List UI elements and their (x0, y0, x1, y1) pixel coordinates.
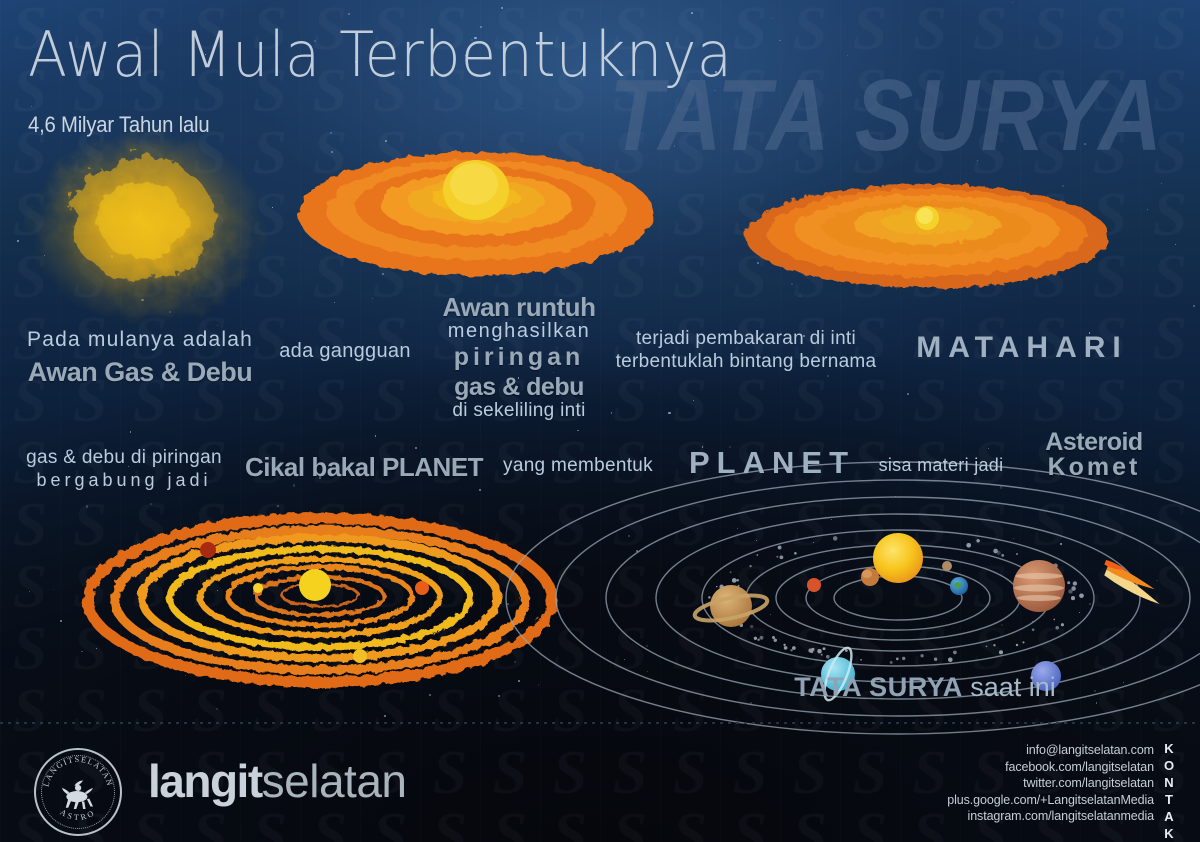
label-comet: Komet (1048, 453, 1141, 482)
label-cloud-line2: Awan Gas & Debu (28, 357, 253, 388)
kontak-letter: K (1160, 825, 1178, 842)
contact-item-1[interactable]: facebook.com/langitselatan (947, 759, 1154, 776)
label-ignition-line1: terjadi pembakaran di inti (636, 328, 856, 350)
big-title: TATA SURYA (609, 58, 1164, 175)
page-subtitle: 4,6 Milyar Tahun lalu (28, 112, 209, 138)
label-leftover: sisa materi jadi (879, 455, 1004, 476)
label-planetesimal: Cikal bakal PLANET (245, 452, 483, 483)
label-collapse-line1: Awan runtuh (443, 292, 596, 323)
langitselatan-seal-logo: LANGITSELATAN ASTRO (34, 748, 122, 836)
seal-artwork: LANGITSELATAN ASTRO (36, 750, 120, 834)
label-sun: MATAHARI (916, 331, 1128, 365)
kontak-vertical-label: KONTAK (1160, 740, 1178, 842)
label-collapse-line3: piringan (454, 343, 585, 372)
collapsing-disk-illustration (296, 138, 656, 288)
brand-bold: langit (148, 755, 262, 807)
contact-item-2[interactable]: twitter.com/langitselatan (947, 775, 1154, 792)
contact-item-4[interactable]: instagram.com/langitselatanmedia (947, 808, 1154, 825)
label-collapse-line4: gas & debu (454, 373, 584, 402)
caption-rest: saat ini (963, 672, 1056, 702)
protoplanet-rings-illustration (72, 508, 572, 693)
label-cloud-line1: Pada mulanya adalah (27, 328, 253, 352)
protostar-disk-illustration (742, 172, 1112, 297)
kontak-letter: K (1160, 740, 1178, 757)
label-accretion-line1: gas & debu di piringan (26, 447, 222, 469)
brand-wordmark: langitselatan (148, 758, 407, 804)
label-disturbance: ada gangguan (279, 340, 411, 363)
gas-dust-cloud-illustration (10, 120, 280, 335)
contact-list: info@langitselatan.comfacebook.com/langi… (947, 742, 1154, 825)
label-planet: PLANET (689, 445, 855, 481)
caption-strong: TATA SURYA (794, 672, 963, 702)
kontak-letter: A (1160, 808, 1178, 825)
contact-item-3[interactable]: plus.google.com/+LangitselatanMedia (947, 792, 1154, 809)
label-collapse-line5: di sekeliling inti (452, 400, 585, 422)
brand-light: selatan (262, 755, 407, 807)
infographic-poster: SSSSSSSSSSSSSSSSSSSSSSSSSSSSSSSSSSSSSSSS… (0, 0, 1200, 842)
kontak-letter: T (1160, 791, 1178, 808)
svg-text:ASTRO: ASTRO (58, 808, 97, 823)
solar-system-caption: TATA SURYA saat ini (794, 672, 1056, 703)
solar-system-illustration (648, 498, 1200, 698)
kontak-letter: O (1160, 757, 1178, 774)
footer-divider (0, 722, 1200, 724)
label-ignition-line2: terbentuklah bintang bernama (616, 351, 877, 373)
kontak-letter: N (1160, 774, 1178, 791)
label-collapse-line2: menghasilkan (448, 320, 591, 343)
label-accretion-line2: bergabung jadi (36, 470, 211, 491)
label-forming: yang membentuk (503, 455, 653, 477)
contact-item-0[interactable]: info@langitselatan.com (947, 742, 1154, 759)
